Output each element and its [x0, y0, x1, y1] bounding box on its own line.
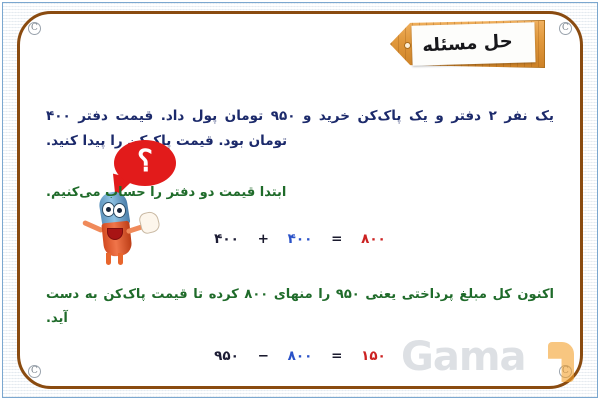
corner-rivet-bottom-right: C — [559, 365, 572, 378]
question-mark-icon: ؟ — [114, 144, 176, 179]
character-leg-right — [118, 253, 123, 265]
corner-rivet-bottom-left: C — [28, 365, 41, 378]
step-two-text: اکنون کل مبلغ پرداختی یعنی ۹۵۰ را منهای … — [46, 283, 554, 331]
equation-two-result: ۱۵۰ — [361, 348, 386, 364]
equation-two-operand-a: ۹۵۰ — [214, 348, 239, 364]
corner-rivet-top-left: C — [28, 22, 41, 35]
step-one-text: ابتدا قیمت دو دفتر را حساب می‌کنیم. — [46, 181, 554, 205]
corner-rivet-top-right: C — [559, 22, 572, 35]
title-sign: حل مسئله — [390, 20, 545, 68]
equation-one-operator: + — [258, 231, 269, 247]
character-leg-left — [106, 253, 111, 265]
speech-bubble-icon: ؟ — [114, 140, 176, 186]
equation-two-equals-sign: = — [331, 348, 342, 364]
equation-one-operand-b: ۴۰۰ — [288, 231, 313, 247]
equation-two-operator: − — [258, 348, 269, 364]
slide-canvas: C C C C حل مسئله یک نفر ۲ دفتر و یک پاک‌… — [0, 0, 600, 400]
equation-one: ۴۰۰ + ۴۰۰ = ۸۰۰ — [0, 231, 600, 247]
equation-one-equals-sign: = — [331, 231, 342, 247]
equation-two-operand-b: ۸۰۰ — [288, 348, 313, 364]
character-eye-right — [113, 203, 126, 218]
equation-one-operand-a: ۴۰۰ — [214, 231, 239, 247]
equation-one-result: ۸۰۰ — [361, 231, 386, 247]
equation-two: ۹۵۰ − ۸۰۰ = ۱۵۰ — [0, 348, 600, 364]
